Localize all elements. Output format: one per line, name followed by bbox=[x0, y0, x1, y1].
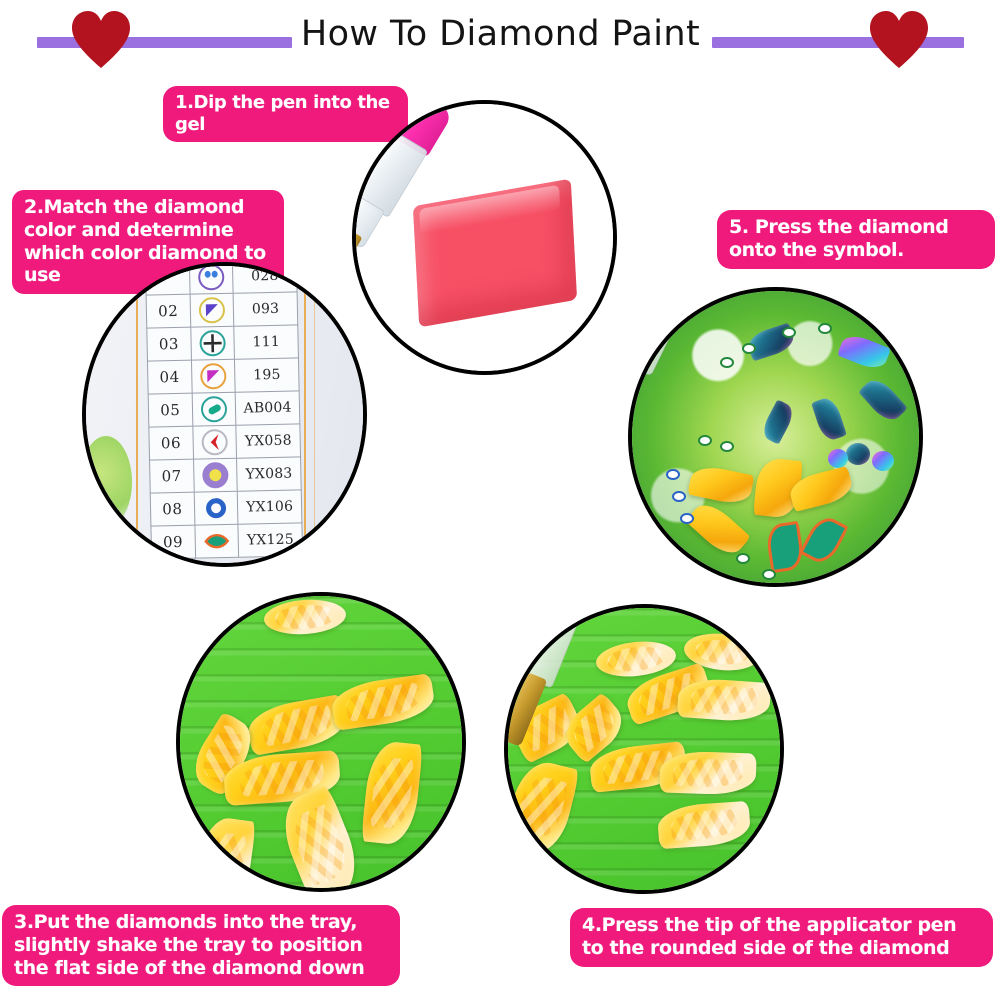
chart-margin-line bbox=[304, 266, 306, 563]
table-row: 03 111 bbox=[147, 325, 299, 361]
capsule-icon bbox=[201, 396, 228, 423]
chart-code: 111 bbox=[234, 325, 298, 359]
chart-code: 028 bbox=[233, 262, 297, 293]
chart-code: AB004 bbox=[235, 391, 299, 425]
table-row: 04 195 bbox=[147, 358, 299, 394]
chevron-left-icon bbox=[201, 429, 228, 456]
step-4-label: 4.Press the tip of the applicator pen to… bbox=[570, 908, 993, 967]
chart-number: 08 bbox=[150, 492, 194, 526]
chart-symbol-cell bbox=[194, 491, 238, 525]
filled-circle-icon bbox=[202, 462, 229, 489]
step-2-photo: 028 02 093 03 bbox=[82, 262, 367, 567]
canvas-gem bbox=[828, 449, 848, 468]
canvas-gem bbox=[872, 451, 894, 471]
chart-code: YX058 bbox=[236, 424, 300, 458]
step-3-label: 3.Put the diamonds into the tray, slight… bbox=[2, 905, 400, 986]
chart-code: YX106 bbox=[237, 490, 301, 524]
color-chart-table: 028 02 093 03 bbox=[145, 262, 303, 560]
canvas-gem bbox=[846, 443, 870, 465]
table-row: 02 093 bbox=[146, 292, 298, 328]
canvas-edge-blur bbox=[82, 436, 132, 528]
table-row: 08 YX106 bbox=[150, 490, 302, 526]
chart-number: 06 bbox=[149, 426, 193, 460]
step-1-photo bbox=[352, 100, 617, 375]
infographic-page: How To Diamond Paint 1.Dip the pen into … bbox=[0, 0, 1001, 1001]
chart-number: 03 bbox=[147, 327, 191, 361]
leaf-icon bbox=[203, 528, 230, 555]
chart-symbol-cell bbox=[193, 458, 237, 492]
chart-symbol-cell bbox=[189, 262, 233, 294]
page-header: How To Diamond Paint bbox=[0, 0, 1001, 78]
table-row: 05 AB004 bbox=[148, 391, 300, 427]
chart-number: 09 bbox=[151, 525, 195, 559]
ring-icon bbox=[203, 495, 230, 522]
chart-symbol-cell bbox=[191, 359, 235, 393]
chart-number: 07 bbox=[150, 459, 194, 493]
chart-margin-line bbox=[314, 266, 315, 563]
chart-symbol-cell bbox=[190, 326, 234, 360]
chart-margin-line bbox=[136, 266, 138, 563]
step-5-photo bbox=[628, 287, 923, 587]
chart-code: YX083 bbox=[237, 457, 301, 491]
chart-number: 04 bbox=[147, 360, 191, 394]
canvas-symbol-dot bbox=[90, 494, 112, 514]
chart-number: 02 bbox=[146, 294, 190, 328]
chart-number: 05 bbox=[148, 393, 192, 427]
chart-code: YX125 bbox=[238, 523, 302, 557]
page-title: How To Diamond Paint bbox=[0, 14, 1001, 54]
table-row: 028 bbox=[145, 262, 297, 295]
step-4-photo bbox=[504, 604, 784, 894]
chart-code: 093 bbox=[233, 292, 297, 326]
triangle-icon bbox=[199, 297, 226, 324]
table-row: 09 YX125 bbox=[151, 523, 303, 559]
chart-symbol-cell bbox=[190, 293, 234, 327]
table-row: 06 YX058 bbox=[149, 424, 301, 460]
triangle-icon bbox=[200, 363, 227, 390]
chart-symbol-cell bbox=[192, 425, 236, 459]
table-row: 07 YX083 bbox=[150, 457, 302, 493]
chart-symbol-cell bbox=[192, 392, 236, 426]
step-3-photo bbox=[176, 592, 466, 892]
plus-icon bbox=[199, 330, 226, 357]
chart-code: 195 bbox=[235, 358, 299, 392]
step-5-label: 5. Press the diamond onto the symbol. bbox=[717, 210, 995, 269]
chart-number bbox=[145, 262, 189, 295]
eyes-circle-icon bbox=[198, 264, 225, 291]
chart-symbol-cell bbox=[195, 524, 239, 558]
